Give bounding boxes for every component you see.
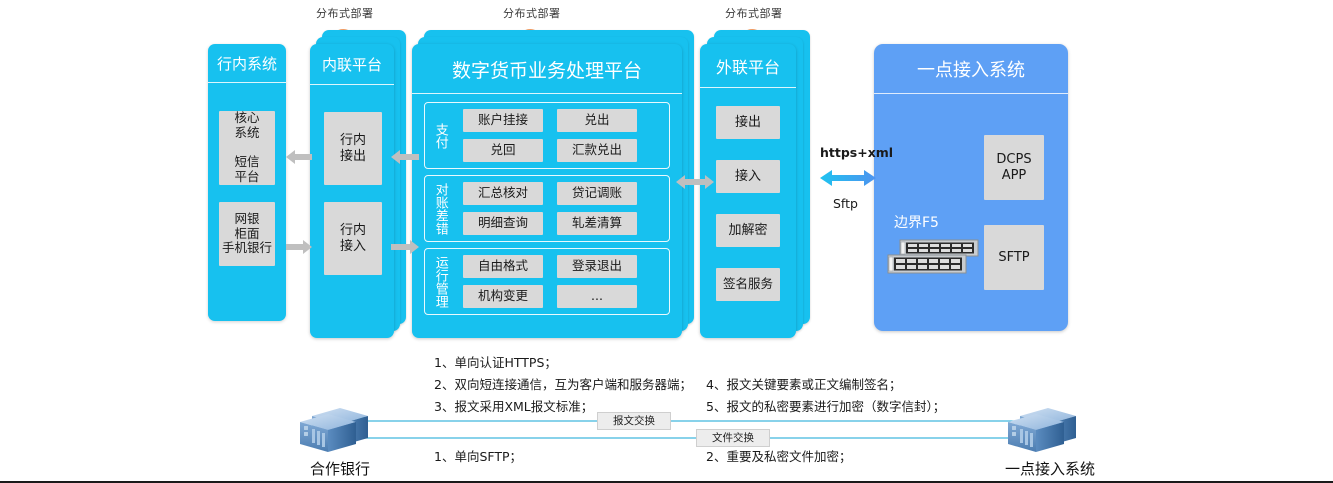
panel-intranet-platform-title: 内联平台	[310, 44, 394, 85]
distributed-deploy-label-3: 分布式部署	[725, 5, 783, 21]
box-exchange-back[interactable]: 兑回	[463, 139, 543, 162]
panel-dcep-business-platform: 数字货币业务处理平台 支付 账户挂接 兑出 兑回 汇款兑出 对账差错 汇总核对 …	[412, 30, 694, 330]
panel-intra-bank-system-shell: 行内系统 核心系统短信平台 网银柜面手机银行	[208, 44, 286, 321]
panel-single-point-access-system: 一点接入系统 边界F5	[874, 44, 1068, 331]
box-outbound[interactable]: 接出	[716, 106, 780, 139]
box-remittance-exchange-out[interactable]: 汇款兑出	[557, 139, 637, 162]
boundary-f5-label: 边界F5	[894, 212, 939, 232]
panel-extranet-shell: 外联平台 接出 接入 加解密 签名服务	[700, 44, 796, 338]
panel-single-point-access-shell: 一点接入系统 边界F5	[874, 44, 1068, 331]
link-top-label: https+xml	[820, 145, 893, 160]
link-bidirectional-arrow-icon	[820, 168, 876, 188]
note-left-2: 2、双向短连接通信，互为客户端和服务器端；	[434, 375, 692, 394]
box-free-format[interactable]: 自由格式	[463, 255, 543, 278]
group-payment-label: 支付	[430, 103, 450, 168]
panel-single-point-access-title: 一点接入系统	[874, 44, 1068, 94]
panel-dcep-shell: 数字货币业务处理平台 支付 账户挂接 兑出 兑回 汇款兑出 对账差错 汇总核对 …	[412, 44, 682, 338]
server-cooperative-bank-icon	[296, 404, 384, 454]
box-more[interactable]: ...	[557, 285, 637, 308]
note-lower-left: 1、单向SFTP；	[434, 447, 522, 466]
box-login-logout[interactable]: 登录退出	[557, 255, 637, 278]
box-signature-service[interactable]: 签名服务	[716, 268, 780, 301]
box-account-linking[interactable]: 账户挂接	[463, 109, 543, 132]
arrow-intra-bank-to-intranet	[286, 240, 312, 254]
panel-single-point-access-body: 边界F5	[874, 94, 1068, 331]
panel-extranet-body: 接出 接入 加解密 签名服务	[700, 88, 796, 338]
distributed-deploy-label-1: 分布式部署	[316, 5, 374, 21]
box-intra-bank-inbound-label: 行内接入	[340, 223, 366, 254]
note-right-5: 5、报文的私密要素进行加密（数字信封）；	[706, 397, 945, 416]
note-right-4: 4、报文关键要素或正文编制签名；	[706, 375, 901, 394]
arrow-dcep-to-extranet-bidirectional	[676, 174, 714, 190]
box-intra-bank-outbound-label: 行内接出	[340, 133, 366, 164]
box-core-system-sms-platform[interactable]: 核心系统短信平台	[219, 111, 275, 185]
box-encryption-decryption[interactable]: 加解密	[716, 214, 780, 247]
box-summary-verification[interactable]: 汇总核对	[463, 182, 543, 205]
flow-line-message-exchange	[352, 415, 1042, 427]
panel-intranet-platform: 内联平台 行内接出 行内接入	[310, 30, 406, 330]
group-operation-management: 运行管理 自由格式 登录退出 机构变更 ...	[424, 248, 670, 315]
panel-intra-bank-system-title: 行内系统	[208, 44, 286, 83]
group-operation-management-label: 运行管理	[430, 249, 450, 314]
link-bottom-label: Sftp	[833, 196, 858, 211]
box-institution-change[interactable]: 机构变更	[463, 285, 543, 308]
server-single-point-access-icon	[1004, 404, 1092, 454]
architecture-diagram: 分布式部署 分布式部署 分布式部署 行内系统 核心系统短信平台 网银柜面手机银行	[0, 0, 1333, 483]
panel-intra-bank-system: 行内系统 核心系统短信平台 网银柜面手机银行	[208, 44, 286, 321]
arrow-intranet-to-dcep	[391, 240, 419, 254]
panel-dcep-body: 支付 账户挂接 兑出 兑回 汇款兑出 对账差错 汇总核对 贷记调账 明细查询 轧…	[412, 94, 682, 338]
box-ebank-counter-mobile[interactable]: 网银柜面手机银行	[219, 202, 275, 266]
f5-appliance-icon	[886, 238, 980, 278]
box-intra-bank-inbound[interactable]: 行内接入	[324, 202, 382, 275]
server-cooperative-bank-label: 合作银行	[294, 458, 386, 479]
chip-file-exchange: 文件交换	[696, 429, 770, 447]
group-reconciliation-error: 对账差错 汇总核对 贷记调账 明细查询 轧差清算	[424, 175, 670, 242]
panel-intranet-platform-shell: 内联平台 行内接出 行内接入	[310, 44, 394, 338]
box-intra-bank-outbound[interactable]: 行内接出	[324, 112, 382, 185]
note-left-1: 1、单向认证HTTPS；	[434, 353, 557, 372]
group-reconciliation-error-label: 对账差错	[430, 176, 450, 241]
server-single-point-access-label: 一点接入系统	[994, 458, 1106, 479]
chip-message-exchange: 报文交换	[597, 412, 671, 430]
note-left-3: 3、报文采用XML报文标准；	[434, 397, 593, 416]
box-core-system-sms-platform-label: 核心系统短信平台	[234, 111, 259, 185]
box-dcps-app[interactable]: DCPSAPP	[984, 135, 1044, 200]
box-dcps-app-label: DCPSAPP	[996, 152, 1031, 183]
box-sftp[interactable]: SFTP	[984, 225, 1044, 290]
panel-extranet-title: 外联平台	[700, 44, 796, 88]
box-exchange-out[interactable]: 兑出	[557, 109, 637, 132]
panel-intranet-platform-body: 行内接出 行内接入	[310, 85, 394, 335]
arrow-dcep-to-intranet	[391, 150, 419, 164]
box-credit-adjustment[interactable]: 贷记调账	[557, 182, 637, 205]
panel-intra-bank-system-body: 核心系统短信平台 网银柜面手机银行	[208, 83, 286, 319]
box-netting-settlement[interactable]: 轧差清算	[557, 212, 637, 235]
arrow-intranet-to-intra-bank	[286, 150, 312, 164]
note-lower-right: 2、重要及私密文件加密；	[706, 447, 851, 466]
box-detail-query[interactable]: 明细查询	[463, 212, 543, 235]
group-payment: 支付 账户挂接 兑出 兑回 汇款兑出	[424, 102, 670, 169]
distributed-deploy-label-2: 分布式部署	[503, 5, 561, 21]
box-inbound[interactable]: 接入	[716, 160, 780, 193]
panel-dcep-title: 数字货币业务处理平台	[412, 44, 682, 94]
box-ebank-counter-mobile-label: 网银柜面手机银行	[222, 212, 272, 256]
panel-extranet-platform: 外联平台 接出 接入 加解密 签名服务	[700, 30, 810, 330]
